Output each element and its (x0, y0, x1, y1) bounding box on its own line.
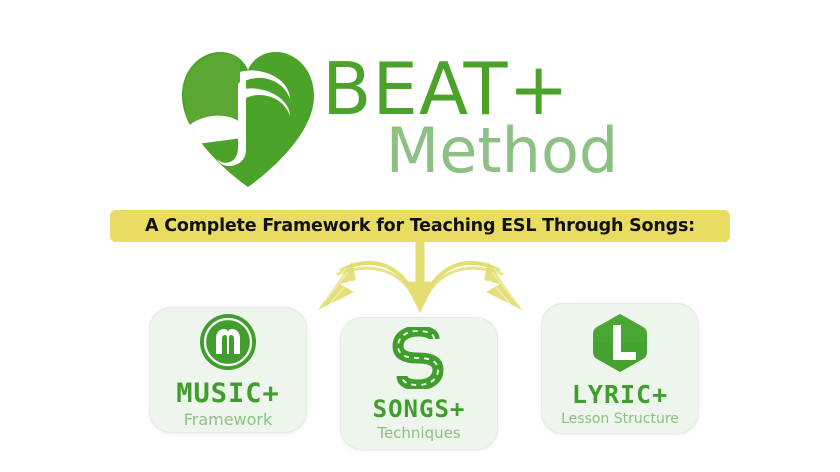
feature-card-lyric-title: LYRIC+ (572, 382, 668, 407)
feature-card-lyric-subtitle: Lesson Structure (561, 412, 679, 426)
feature-card-music-subtitle: Framework (184, 412, 273, 428)
feature-card-songs-title: SONGS+ (373, 397, 466, 421)
circle-m-heart-icon (198, 312, 258, 376)
feature-cards-row: MUSIC+ Framework SONGS+ Techniques LYRIC… (0, 0, 840, 472)
feature-card-songs[interactable]: SONGS+ Techniques (340, 317, 498, 450)
feature-card-music[interactable]: MUSIC+ Framework (149, 307, 307, 433)
s-road-icon (388, 327, 450, 393)
hexagon-l-icon (589, 312, 651, 378)
feature-card-music-title: MUSIC+ (176, 380, 280, 407)
feature-card-songs-subtitle: Techniques (377, 426, 460, 441)
feature-card-lyric[interactable]: LYRIC+ Lesson Structure (541, 303, 699, 434)
